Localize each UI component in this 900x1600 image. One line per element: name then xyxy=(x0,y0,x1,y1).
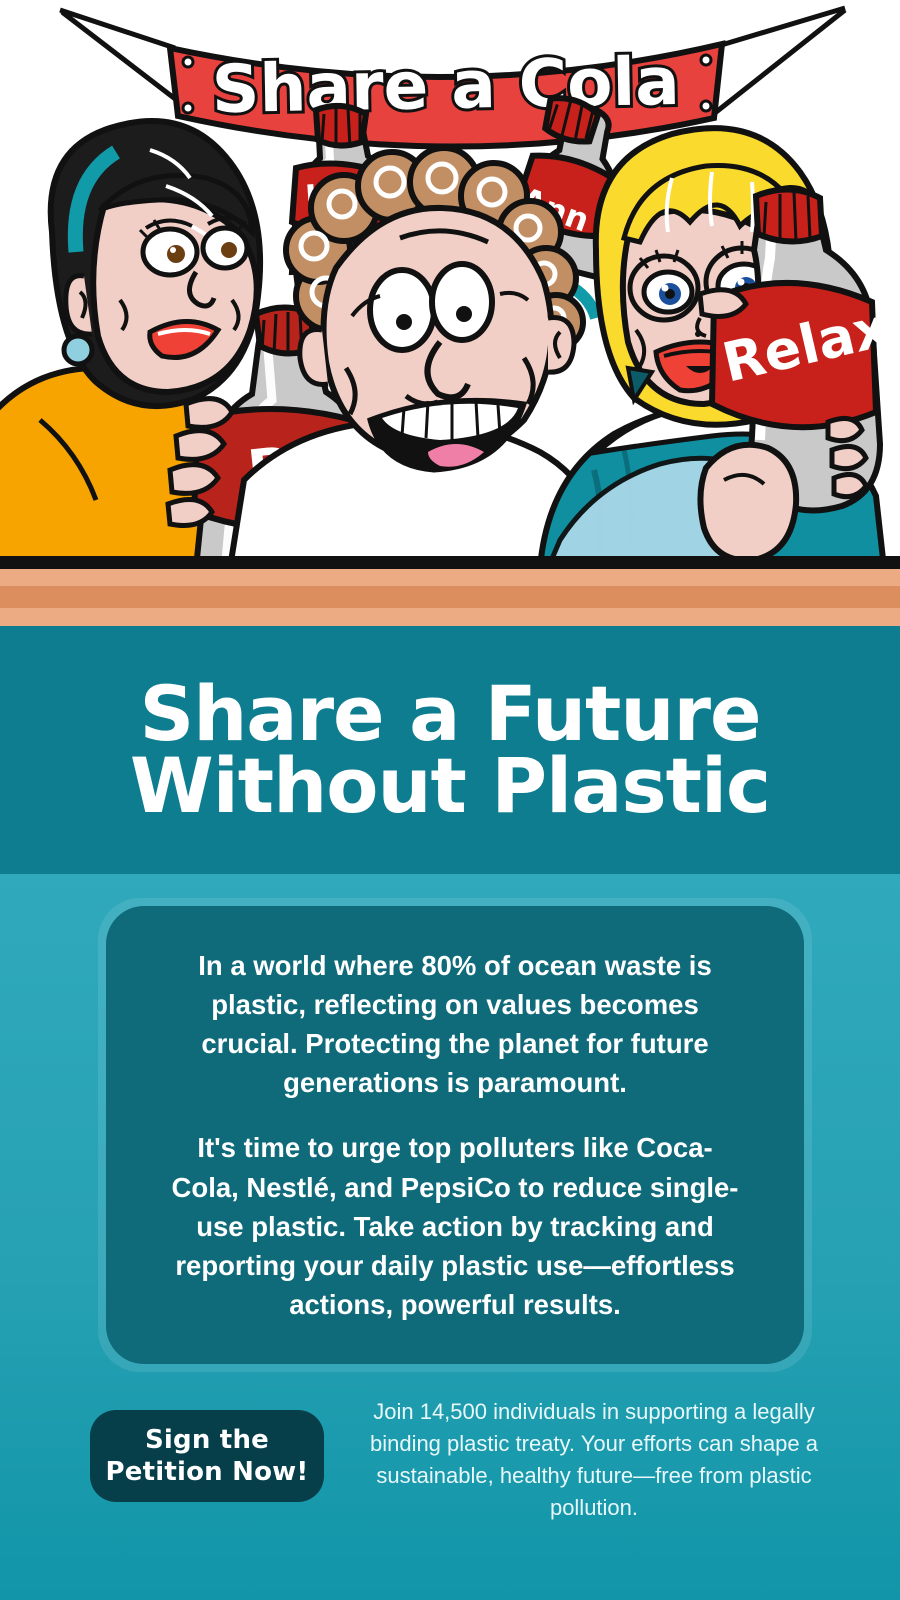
body-paragraph-1: In a world where 80% of ocean waste is p… xyxy=(164,946,746,1102)
page-title: Share a Future Without Plastic xyxy=(90,678,810,822)
hero-illustration: Share a Cola xyxy=(0,0,900,568)
headline-line-2: Without Plastic xyxy=(130,750,770,822)
headline-section: Share a Future Without Plastic xyxy=(0,626,900,874)
divider-band-tan xyxy=(0,586,900,608)
body-card: In a world where 80% of ocean waste is p… xyxy=(106,906,804,1364)
banner-shape: Share a Cola xyxy=(170,43,722,147)
cta-section: Sign the Petition Now! Join 14,500 indiv… xyxy=(0,1388,900,1548)
cta-supporting-text: Join 14,500 individuals in supporting a … xyxy=(366,1396,822,1524)
body-paragraph-2: It's time to urge top polluters like Coc… xyxy=(164,1128,746,1323)
poster-root: Share a Cola xyxy=(0,0,900,1600)
sign-petition-button[interactable]: Sign the Petition Now! xyxy=(90,1410,324,1502)
svg-text:Share a Cola: Share a Cola xyxy=(211,43,680,128)
divider-band-peach-top xyxy=(0,569,900,586)
divider-band-peach-bottom xyxy=(0,608,900,626)
